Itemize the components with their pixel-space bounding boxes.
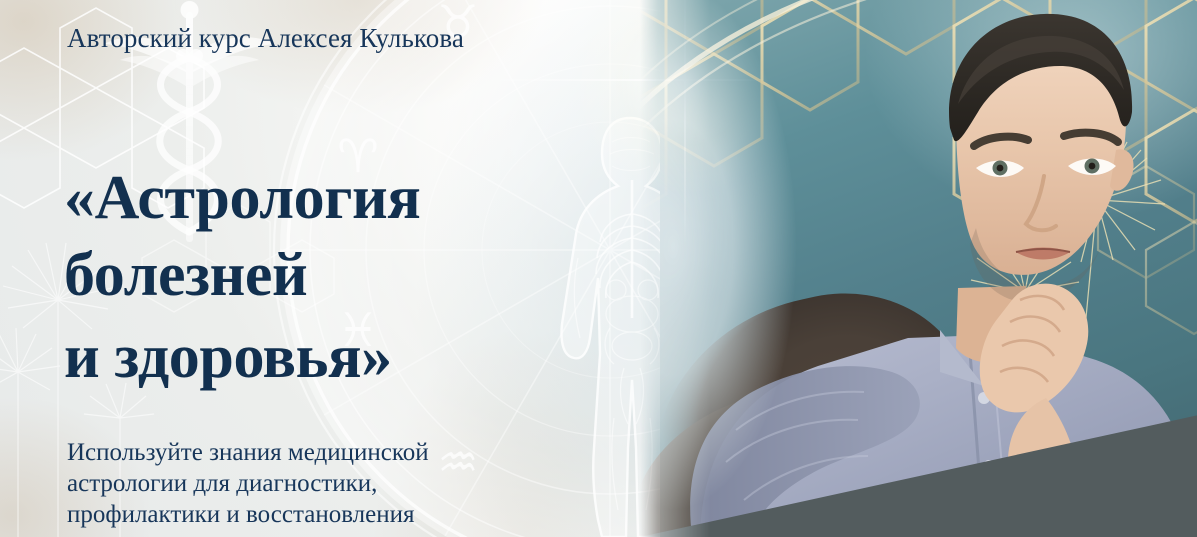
course-description-line-4: здоровья.: [67, 530, 429, 537]
page-title: «Астрология болезней и здоровья»: [64, 160, 420, 396]
text-column: Авторский курс Алексея Кулькова «Астроло…: [0, 0, 640, 537]
page-title-line-1: «Астрология: [64, 160, 420, 237]
page-title-line-2: болезней: [64, 237, 420, 314]
course-description-line-2: астрологии для диагностики,: [67, 468, 429, 499]
portrait-photo: [640, 0, 1197, 537]
course-description: Используйте знания медицинской астрологи…: [67, 437, 429, 537]
course-promo-banner: ♊ ♋ ♌ ♉ ♈ ♓ ♒ ♐: [0, 0, 1197, 537]
course-author-eyebrow: Авторский курс Алексея Кулькова: [67, 21, 464, 55]
course-description-line-1: Используйте знания медицинской: [67, 437, 429, 468]
course-description-line-3: профилактики и восстановления: [67, 499, 429, 530]
page-title-line-3: и здоровья»: [64, 319, 420, 396]
